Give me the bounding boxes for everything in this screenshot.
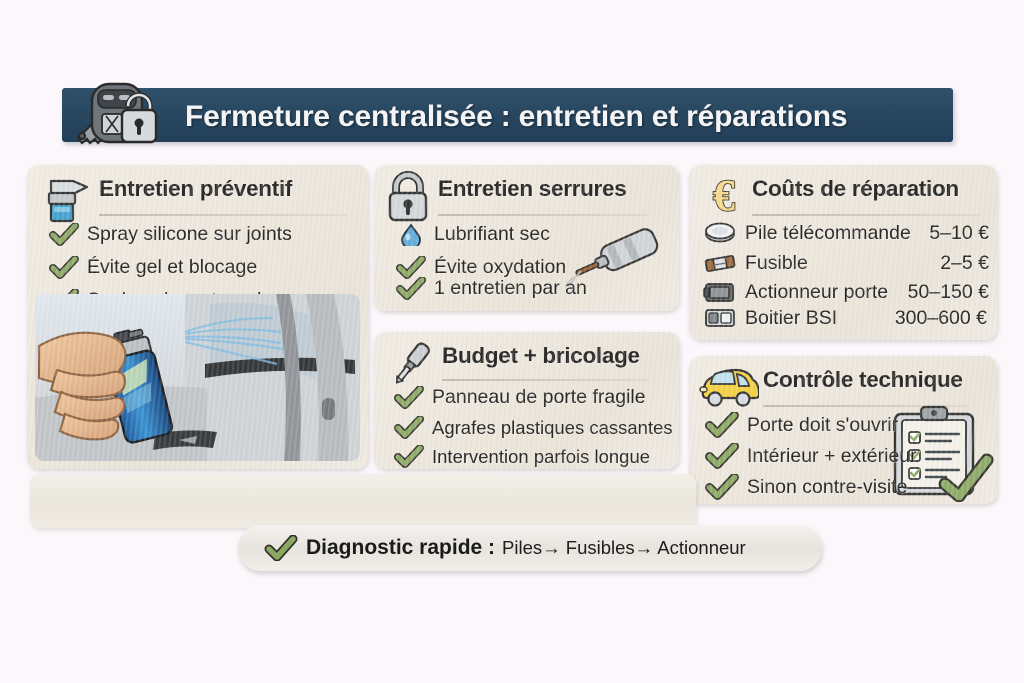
check-icon: [705, 443, 739, 469]
check-icon: [394, 416, 424, 439]
divider: [752, 214, 980, 216]
list-item-label: Spray silicone sur joints: [87, 223, 292, 246]
card-header: Contrôle technique: [689, 356, 1024, 404]
card-title: Contrôle technique: [763, 367, 963, 393]
cost-label: Boitier BSI: [745, 307, 837, 330]
list-item-label: Sinon contre-visite: [747, 476, 907, 499]
cost-price: 50–150 €: [908, 281, 989, 304]
card-header: Entretien préventif: [27, 165, 368, 213]
cost-price: 2–5 €: [940, 252, 989, 275]
check-icon: [394, 445, 424, 468]
list-item-label: Évite gel et blocage: [87, 256, 257, 279]
cost-row: Pile télécommande 5–10 €: [703, 221, 989, 245]
list-item-label: 1 entretien par an: [434, 277, 587, 300]
card-controle-technique: Contrôle technique: [689, 356, 997, 504]
list-item: Évite gel et blocage: [49, 256, 257, 279]
spray-on-door-seal-illustration: [35, 294, 360, 461]
list-item: Lubrifiant sec: [396, 223, 550, 246]
card-header: Entretien serrures: [374, 165, 743, 213]
card-title: Entretien serrures: [438, 176, 626, 202]
key-fob-lock-icon: [62, 78, 182, 150]
infographic-canvas: Fermeture centralisée : entretien et rép…: [0, 0, 1024, 683]
cost-label: Actionneur porte: [745, 281, 888, 304]
divider: [442, 379, 648, 381]
diagnostic-label: Diagnostic rapide :: [306, 536, 495, 560]
check-icon: [49, 223, 79, 246]
list-item-label: Intervention parfois longue: [432, 446, 650, 468]
list-item-label: Agrafes plastiques cassantes: [432, 417, 673, 439]
check-icon: [394, 386, 424, 409]
divider: [99, 214, 347, 216]
diagnostic-pill: Diagnostic rapide : Piles→ Fusibles→ Act…: [238, 525, 822, 571]
check-icon: [49, 256, 79, 279]
list-item-label: Panneau de porte fragile: [432, 386, 646, 409]
cost-row: Fusible 2–5 €: [703, 251, 989, 275]
check-icon: [396, 277, 426, 300]
list-item-label: Lubrifiant sec: [434, 223, 550, 246]
card-header: Coûts de réparation: [689, 165, 1024, 213]
card-budget-bricolage: Budget + bricolage Panneau de porte frag…: [374, 332, 679, 469]
cost-row: Boitier BSI 300–600 €: [703, 306, 989, 330]
cost-price: 300–600 €: [895, 307, 987, 330]
list-item-label: Intérieur + extérieur: [747, 445, 917, 468]
check-icon: [396, 256, 426, 279]
card-title: Budget + bricolage: [442, 343, 640, 369]
list-item: Intervention parfois longue: [394, 445, 650, 468]
list-item-label: Porte doit s'ouvrir: [747, 414, 898, 437]
actuator-icon: [703, 279, 737, 305]
card-couts-de-reparation: € Coûts de réparation Pile télécommande …: [689, 165, 997, 340]
card-entretien-preventif: Entretien préventif Spray silicone sur j…: [27, 165, 368, 469]
list-item: Panneau de porte fragile: [394, 386, 646, 409]
page-title: Fermeture centralisée : entretien et rép…: [185, 95, 945, 139]
list-item: Agrafes plastiques cassantes: [394, 416, 673, 439]
diagnostic-flow: Piles→ Fusibles→ Actionneur: [502, 537, 746, 559]
cost-row: Actionneur porte 50–150 €: [703, 279, 989, 305]
bsi-box-icon: [703, 306, 737, 330]
cost-label: Fusible: [745, 252, 808, 275]
list-item: Porte doit s'ouvrir: [705, 412, 898, 438]
cost-price: 5–10 €: [929, 222, 989, 245]
decorative-strip: [30, 474, 696, 528]
card-title: Coûts de réparation: [752, 176, 959, 202]
cost-label: Pile télécommande: [745, 222, 911, 245]
check-icon: [705, 474, 739, 500]
check-icon: [264, 535, 298, 561]
card-title: Entretien préventif: [99, 176, 292, 202]
coin-battery-icon: [703, 221, 737, 245]
water-drop-icon: [396, 223, 426, 246]
list-item: Spray silicone sur joints: [49, 223, 292, 246]
list-item: Sinon contre-visite: [705, 474, 907, 500]
list-item: 1 entretien par an: [396, 277, 587, 300]
fuse-icon: [703, 251, 737, 275]
list-item: Évite oxydation: [396, 256, 566, 279]
list-item-label: Évite oxydation: [434, 256, 566, 279]
check-icon: [705, 412, 739, 438]
list-item: Intérieur + extérieur: [705, 443, 917, 469]
card-entretien-serrures: Entretien serrures Lubrifiant sec: [374, 165, 679, 311]
